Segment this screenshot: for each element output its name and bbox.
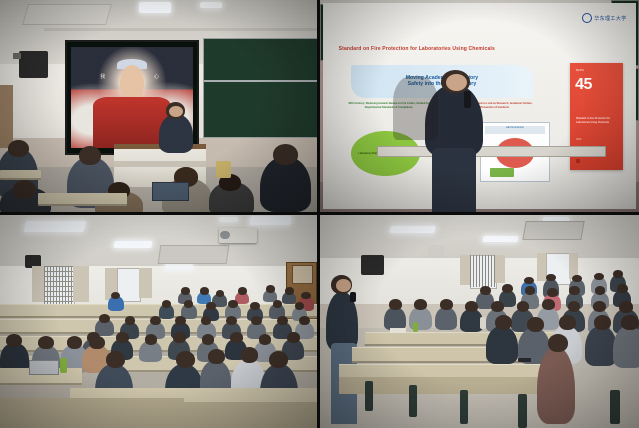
logo-ring-icon: [582, 13, 592, 23]
water-bottle: [413, 322, 419, 333]
panel-bottom-left[interactable]: [0, 215, 317, 428]
mini-figure-title: Lab Fires Report: [485, 126, 546, 134]
thermos: [480, 317, 486, 329]
speaker-legs: [432, 148, 477, 212]
audience: [320, 215, 639, 428]
photo-collage: 我 心: [0, 0, 639, 428]
nfpa-number: 45: [575, 77, 592, 93]
microphone: [464, 91, 472, 108]
nfpa-org-label: NFPA: [576, 69, 584, 72]
mini-figure-bar: [490, 168, 513, 176]
audience: [0, 215, 317, 428]
nfpa-year: 2019: [576, 139, 581, 141]
audience-foreground: [0, 0, 317, 212]
university-logo-text: 华东理工大学: [594, 15, 626, 22]
panel-top-right[interactable]: 华东理工大学 Standard on Fire Protection for L…: [320, 0, 639, 212]
screen-tray: [377, 146, 605, 156]
nfpa-seal-icon: [576, 159, 581, 164]
water-bottle: [60, 358, 67, 373]
speaker-face: [446, 74, 467, 91]
bench-desk-front: [0, 398, 184, 428]
laptop: [152, 182, 189, 201]
panel-bottom-right[interactable]: [320, 215, 639, 428]
nfpa-subtitle: Standard on Fire Protection for Laborato…: [576, 118, 618, 125]
laptop: [29, 360, 60, 375]
phone: [518, 358, 531, 362]
bench-desk-front: [178, 402, 317, 428]
panel-top-left[interactable]: 我 心: [0, 0, 317, 212]
slide-title: Standard on Fire Protection for Laborato…: [339, 46, 618, 52]
notebook: [390, 328, 406, 333]
speaker-shadow: [393, 76, 438, 140]
seated-attendee-foreground: [537, 347, 575, 424]
university-logo: 华东理工大学: [582, 13, 626, 23]
